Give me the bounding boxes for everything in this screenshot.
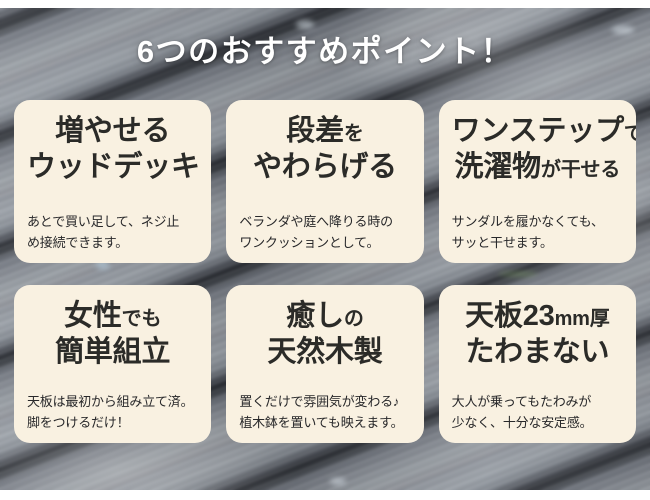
description-line-0: 大人が乗ってもたわみが: [452, 391, 623, 412]
feature-card-one-step-laundry-drying: ワンステップで 洗濯物が干せる サンダルを履かなくても、 サッと干せます。: [439, 100, 636, 263]
heading-line: ワンステップで: [452, 114, 623, 150]
heading-main-1: 天然木製: [267, 336, 382, 368]
heading-main-0: 癒し: [286, 300, 344, 332]
heading-main-1: 簡単組立: [55, 336, 170, 368]
feature-card-description: サンダルを履かなくても、 サッと干せます。: [452, 203, 623, 253]
heading-main-1: ウッドデッキ: [27, 151, 200, 183]
heading-main-1: 洗濯物: [455, 151, 541, 183]
deck-highlight-spot: [612, 26, 634, 34]
feature-card-softens-step-height: 段差を やわらげる ベランダや庭へ降りる時の ワンクッションとして。: [226, 100, 423, 263]
heading-line: 簡単組立: [27, 335, 198, 371]
feature-card-heading: ワンステップで 洗濯物が干せる: [452, 114, 623, 185]
feature-card-easy-assembly-for-women: 女性でも 簡単組立 天板は最初から組み立て済。 脚をつけるだけ！: [14, 285, 211, 443]
top-white-margin: [0, 0, 650, 8]
infographic-panel: 6つのおすすめポイント！ 増やせる ウッドデッキ あとで買い足して、ネジ止 め接…: [0, 0, 650, 500]
heading-line: やわらげる: [239, 150, 410, 186]
description-line-1: め接続できます。: [27, 232, 198, 253]
heading-line: 洗濯物が干せる: [452, 150, 623, 186]
description-line-1: 植木鉢を置いても映えます。: [239, 412, 410, 433]
heading-main-0: 女性: [64, 300, 122, 332]
description-line-0: 置くだけで雰囲気が変わる♪: [239, 391, 410, 412]
feature-card-heading: 段差を やわらげる: [239, 114, 410, 185]
feature-card-grid: 増やせる ウッドデッキ あとで買い足して、ネジ止 め接続できます。 段差を やわ…: [14, 100, 636, 443]
feature-card-description: ベランダや庭へ降りる時の ワンクッションとして。: [239, 203, 410, 253]
heading-main-0: 段差: [286, 115, 344, 147]
feature-card-heading: 女性でも 簡単組立: [27, 299, 198, 370]
description-line-0: サンダルを履かなくても、: [452, 211, 623, 232]
description-line-1: サッと干せます。: [452, 232, 623, 253]
heading-small-0: mm厚: [555, 308, 610, 330]
heading-small-0: でも: [122, 308, 162, 330]
feature-card-description: 大人が乗ってもたわみが 少なく、十分な安定感。: [452, 383, 623, 433]
feature-card-expandable-wood-deck: 増やせる ウッドデッキ あとで買い足して、ネジ止 め接続できます。: [14, 100, 211, 263]
bottom-white-margin: [0, 490, 650, 500]
description-line-1: 少なく、十分な安定感。: [452, 412, 623, 433]
feature-card-heading: 増やせる ウッドデッキ: [27, 114, 198, 185]
feature-card-heading: 天板23mm厚 たわまない: [452, 299, 623, 370]
heading-main-1: たわまない: [465, 336, 609, 368]
heading-line: 癒しの: [239, 299, 410, 335]
page-title: 6つのおすすめポイント！: [0, 36, 650, 67]
heading-line: たわまない: [452, 335, 623, 371]
feature-card-description: 天板は最初から組み立て済。 脚をつけるだけ！: [27, 383, 198, 433]
heading-small-0: で: [624, 123, 636, 145]
description-line-0: あとで買い足して、ネジ止: [27, 211, 198, 232]
description-line-1: 脚をつけるだけ！: [27, 412, 198, 433]
heading-main-0: 天板23: [465, 300, 554, 332]
heading-line: 天板23mm厚: [452, 299, 623, 335]
heading-line: 段差を: [239, 114, 410, 150]
feature-card-heading: 癒しの 天然木製: [239, 299, 410, 370]
description-line-1: ワンクッションとして。: [239, 232, 410, 253]
deck-highlight-spot: [296, 20, 314, 29]
heading-main-0: ワンステップ: [452, 115, 624, 147]
feature-card-description: あとで買い足して、ネジ止 め接続できます。: [27, 203, 198, 253]
heading-small-1: が干せる: [541, 159, 620, 181]
heading-line: ウッドデッキ: [27, 150, 198, 186]
heading-line: 女性でも: [27, 299, 198, 335]
deck-highlight-spot: [330, 478, 346, 485]
heading-small-0: を: [344, 123, 364, 145]
heading-main-0: 増やせる: [55, 115, 170, 147]
description-line-0: 天板は最初から組み立て済。: [27, 391, 198, 412]
heading-small-0: の: [344, 308, 364, 330]
heading-line: 増やせる: [27, 114, 198, 150]
description-line-0: ベランダや庭へ降りる時の: [239, 211, 410, 232]
heading-main-1: やわらげる: [253, 151, 397, 183]
feature-card-soothing-natural-wood: 癒しの 天然木製 置くだけで雰囲気が変わる♪ 植木鉢を置いても映えます。: [226, 285, 423, 443]
heading-line: 天然木製: [239, 335, 410, 371]
feature-card-23mm-thick-no-sag-top: 天板23mm厚 たわまない 大人が乗ってもたわみが 少なく、十分な安定感。: [439, 285, 636, 443]
feature-card-description: 置くだけで雰囲気が変わる♪ 植木鉢を置いても映えます。: [239, 383, 410, 433]
